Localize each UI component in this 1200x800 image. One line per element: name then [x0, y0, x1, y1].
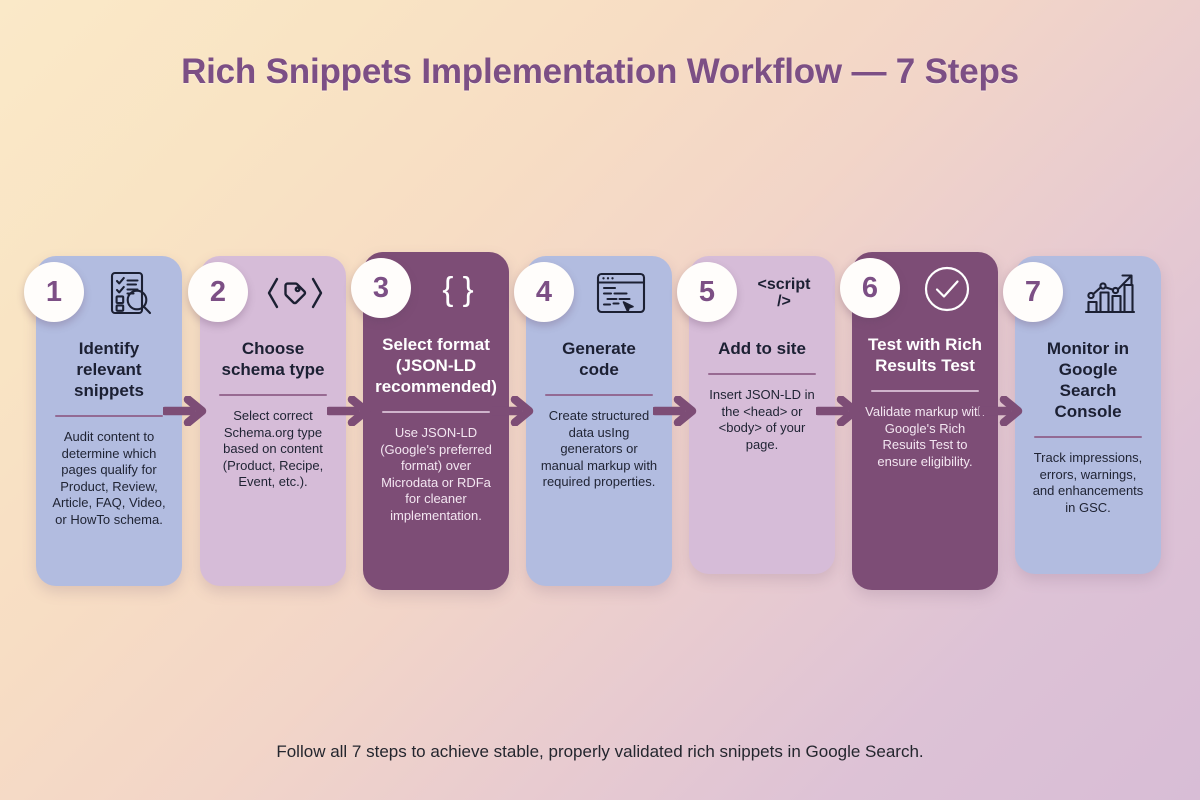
code-window-cursor-icon [590, 264, 652, 322]
steps-row: 1 Identify relevant snippetsAudit conten… [0, 0, 1200, 800]
arrow-6-to-7 [979, 396, 1025, 426]
step-number-badge: 4 [514, 262, 574, 322]
curly-braces-icon: { } [427, 260, 489, 318]
arrow-1-to-2 [163, 396, 209, 426]
step-divider [55, 415, 163, 417]
step-number-badge: 2 [188, 262, 248, 322]
step-number-badge: 6 [840, 258, 900, 318]
step-description: Select correct Schema.org type based on … [210, 408, 336, 491]
step-description: Create structured data usIng generators … [536, 408, 662, 491]
step-card-header: 7 [1025, 256, 1151, 338]
step-card-header: 5<script /> [699, 256, 825, 338]
step-divider [871, 390, 979, 392]
step-card-header: 2 [210, 256, 336, 338]
arrow-5-to-6 [816, 396, 862, 426]
step-description: Track impressions, errors, warnings, and… [1025, 450, 1151, 516]
step-description: Insert JSON-LD in the <head> or <body> o… [699, 387, 825, 453]
step-divider [708, 373, 816, 375]
step-card-1[interactable]: 1 Identify relevant snippetsAudit conten… [36, 256, 182, 586]
step-card-header: 4 [536, 256, 662, 338]
step-title: Test with Rich Results Test [862, 334, 988, 376]
arrow-2-to-3 [327, 396, 373, 426]
step-title: Identify relevant snippets [46, 338, 172, 401]
step-card-header: 3{ } [373, 252, 499, 334]
check-circle-icon [916, 260, 978, 318]
step-card-header: 1 [46, 256, 172, 338]
checklist-search-icon [100, 264, 162, 322]
step-card-7[interactable]: 7 Monitor in Google Search ConsoleTrack … [1015, 256, 1161, 574]
bar-chart-trend-up-icon [1079, 264, 1141, 322]
step-divider [219, 394, 327, 396]
step-divider [545, 394, 653, 396]
step-number-badge: 1 [24, 262, 84, 322]
step-title: Add to site [714, 338, 810, 359]
step-number-badge: 7 [1003, 262, 1063, 322]
step-title: Monitor in Google Search Console [1025, 338, 1151, 422]
arrow-3-to-4 [490, 396, 536, 426]
step-number-badge: 5 [677, 262, 737, 322]
step-divider [1034, 436, 1142, 438]
step-description: Use JSON-LD (Google's preferred format) … [373, 425, 499, 524]
footer-note: Follow all 7 steps to achieve stable, pr… [0, 742, 1200, 762]
step-number-badge: 3 [351, 258, 411, 318]
step-divider [382, 411, 490, 413]
step-card-2[interactable]: 2 Choose schema typeSelect correct Schem… [200, 256, 346, 586]
step-card-3[interactable]: 3{ }Select format (JSON-LD recommended)U… [363, 252, 509, 590]
infographic-canvas: Rich Snippets Implementation Workflow — … [0, 0, 1200, 800]
step-card-5[interactable]: 5<script />Add to siteInsert JSON-LD in … [689, 256, 835, 574]
step-card-6[interactable]: 6 Test with Rich Results TestValidate ma… [852, 252, 998, 590]
step-description: Audit content to determine which pages q… [46, 429, 172, 528]
tag-in-angle-brackets-icon [264, 264, 326, 322]
step-title: Choose schema type [210, 338, 336, 380]
step-title: Select format (JSON-LD recommended) [371, 334, 501, 397]
curly-braces-icon-glyph: { } [442, 272, 473, 306]
step-description: Validate markup with Google's Rich Resui… [862, 404, 988, 470]
step-card-4[interactable]: 4 Generate codeCreate structured data us… [526, 256, 672, 586]
step-card-header: 6 [862, 252, 988, 334]
script-tag-icon-glyph: <script /> [758, 276, 811, 310]
step-title: Generate code [536, 338, 662, 380]
script-tag-icon: <script /> [753, 264, 815, 322]
arrow-4-to-5 [653, 396, 699, 426]
